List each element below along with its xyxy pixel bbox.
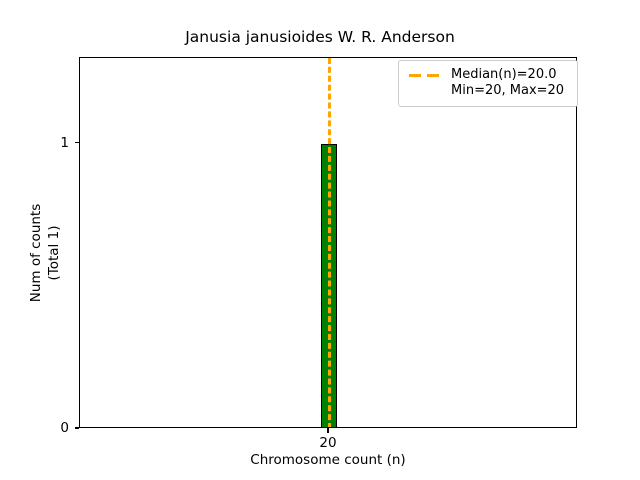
x-axis-label: Chromosome count (n) — [79, 452, 577, 468]
median-line — [328, 58, 331, 428]
x-tick-label: 20 — [298, 436, 358, 451]
y-tick-mark — [75, 142, 80, 143]
x-tick-mark — [327, 428, 328, 433]
legend-label-median: Median(n)=20.0 — [451, 67, 564, 83]
chart-title: Janusia janusioides W. R. Anderson — [0, 28, 640, 47]
y-tick-label: 0 — [39, 421, 69, 435]
chart-figure: Janusia janusioides W. R. Anderson Chrom… — [0, 0, 640, 480]
y-tick-label: 1 — [39, 136, 69, 150]
y-tick-mark — [75, 427, 80, 428]
legend: Median(n)=20.0 Min=20, Max=20 — [398, 60, 578, 107]
plot-area — [79, 57, 577, 428]
legend-label-minmax: Min=20, Max=20 — [451, 83, 564, 99]
legend-label-group: Median(n)=20.0 Min=20, Max=20 — [451, 67, 564, 99]
legend-median-line-icon — [408, 67, 442, 83]
